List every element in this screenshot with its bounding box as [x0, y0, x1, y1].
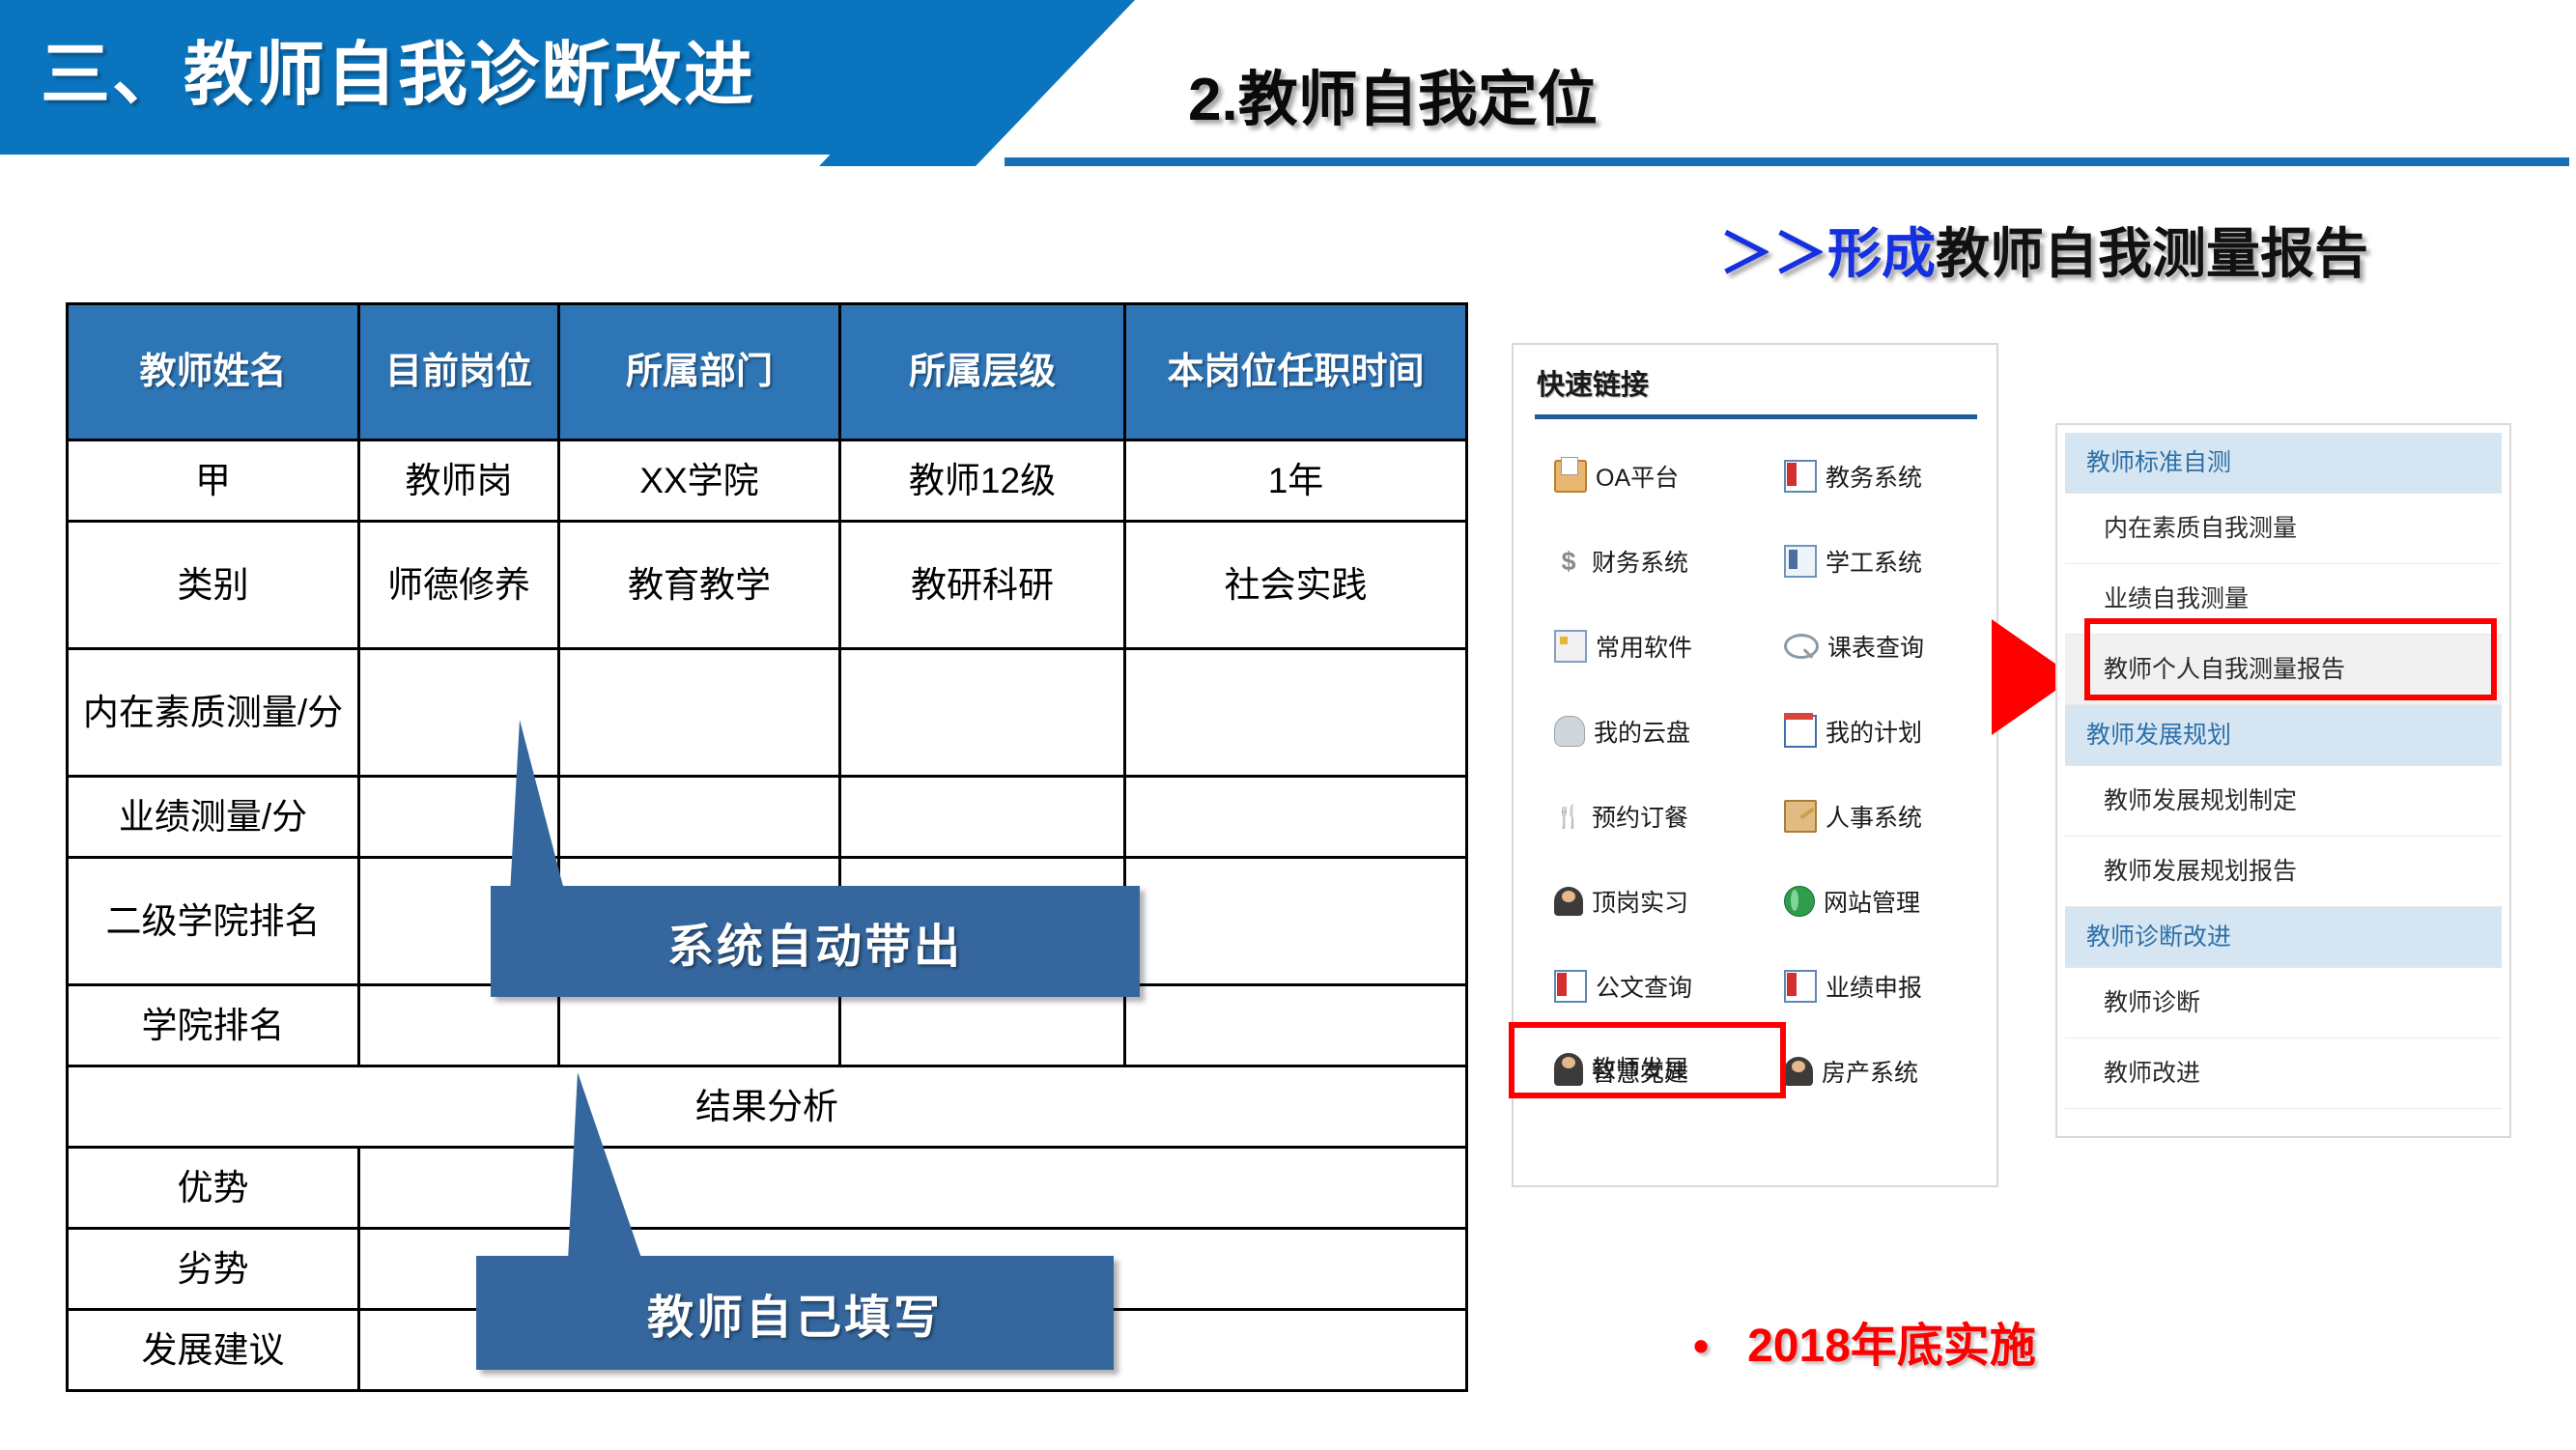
menu-group-development-plan: 教师发展规划	[2065, 705, 2502, 766]
col-header-name: 教师姓名	[68, 304, 359, 441]
cell-empty	[1125, 777, 1467, 858]
menu-group-diagnosis-improve: 教师诊断改进	[2065, 907, 2502, 968]
cell-empty	[359, 985, 559, 1066]
cell-name: 甲	[68, 441, 359, 522]
col-header-tenure: 本岗位任职时间	[1125, 304, 1467, 441]
cell-research: 教研科研	[840, 522, 1125, 649]
table-row: 学院排名	[68, 985, 1467, 1066]
quick-link-label: 业绩申报	[1826, 969, 1922, 1004]
quick-links-grid: OA平台 教务系统 $ 财务系统 学工系统 常用软件 课表查询	[1514, 434, 1996, 1114]
quick-link-renshi[interactable]: 人事系统	[1755, 774, 1996, 859]
col-header-dept: 所属部门	[559, 304, 840, 441]
quick-link-gongwen[interactable]: 公文查询	[1514, 944, 1755, 1029]
table-header-row: 教师姓名 目前岗位 所属部门 所属层级 本岗位任职时间	[68, 304, 1467, 441]
quick-link-label: 我的计划	[1826, 714, 1922, 749]
quick-links-underline	[1535, 414, 1977, 419]
col-header-level: 所属层级	[840, 304, 1125, 441]
cell-practice: 社会实践	[1125, 522, 1467, 649]
menu-item-development-plan-create[interactable]: 教师发展规划制定	[2065, 766, 2502, 837]
quick-link-caiwu[interactable]: $ 财务系统	[1514, 519, 1755, 604]
cell-strength-value	[359, 1148, 1467, 1229]
fork-knife-icon: 🍴	[1554, 802, 1583, 831]
bullet-icon: •	[1693, 1321, 1709, 1371]
cell-teaching: 教育教学	[559, 522, 840, 649]
quick-link-label: 学工系统	[1826, 544, 1922, 579]
quick-link-dinggang[interactable]: 顶岗实习	[1514, 859, 1755, 944]
menu-group-standard-selftest: 教师标准自测	[2065, 433, 2502, 494]
teacher-development-menu-panel: 教师标准自测 内在素质自我测量 业绩自我测量 教师个人自我测量报告 教师发展规划…	[2055, 423, 2511, 1138]
quick-links-title: 快速链接	[1537, 362, 1649, 403]
id-card-icon	[1784, 545, 1817, 578]
menu-item-teacher-diagnosis[interactable]: 教师诊断	[2065, 968, 2502, 1038]
person-icon	[1554, 887, 1583, 916]
book-icon	[1784, 460, 1817, 493]
calendar-icon	[1784, 715, 1817, 748]
quick-link-oa[interactable]: OA平台	[1514, 434, 1755, 519]
row-label-school-rank: 学院排名	[68, 985, 359, 1066]
menu-item-development-plan-report[interactable]: 教师发展规划报告	[2065, 837, 2502, 907]
quick-link-label: 常用软件	[1596, 629, 1692, 664]
mail-tray-icon	[1554, 460, 1587, 493]
money-icon: $	[1554, 547, 1583, 576]
cell-empty	[840, 985, 1125, 1066]
quick-link-changyong[interactable]: 常用软件	[1514, 604, 1755, 689]
presentation-icon	[1554, 630, 1587, 663]
table-row-analysis-header: 结果分析	[68, 1066, 1467, 1148]
cell-empty	[1125, 985, 1467, 1066]
row-label-inner-quality: 内在素质测量/分	[68, 649, 359, 777]
report-subtitle: ＞＞形成教师自我测量报告	[1719, 211, 2368, 289]
cell-category: 类别	[68, 522, 359, 649]
quick-link-jihua[interactable]: 我的计划	[1755, 689, 1996, 774]
col-header-post: 目前岗位	[359, 304, 559, 441]
implementation-note-text: 2018年底实施	[1747, 1321, 2036, 1372]
subtitle-main-text: 教师自我测量报告	[1936, 223, 2368, 284]
row-label-strength: 优势	[68, 1148, 359, 1229]
row-label-performance: 业绩测量/分	[68, 777, 359, 858]
book-icon	[1554, 970, 1587, 1003]
quick-link-label: 我的云盘	[1594, 714, 1690, 749]
row-label-weakness: 劣势	[68, 1229, 359, 1310]
quick-link-jiaowu[interactable]: 教务系统	[1755, 434, 1996, 519]
cell-dept: XX学院	[559, 441, 840, 522]
folder-pencil-icon	[1784, 800, 1817, 833]
analysis-title: 结果分析	[68, 1066, 1467, 1148]
quick-link-yunpan[interactable]: 我的云盘	[1514, 689, 1755, 774]
quick-link-label: 人事系统	[1826, 799, 1922, 834]
cell-post: 教师岗	[359, 441, 559, 522]
table-row: 甲 教师岗 XX学院 教师12级 1年	[68, 441, 1467, 522]
quick-link-label: 顶岗实习	[1592, 884, 1688, 919]
callout-teacher-fill: 教师自己填写	[476, 1256, 1114, 1370]
subtitle-chevron-text: ＞＞形成	[1719, 223, 1936, 284]
table-row: 业绩测量/分	[68, 777, 1467, 858]
cell-empty	[559, 777, 840, 858]
search-doc-icon	[1784, 634, 1819, 659]
teacher-self-assessment-table: 教师姓名 目前岗位 所属部门 所属层级 本岗位任职时间 甲 教师岗 XX学院 教…	[66, 302, 1468, 1392]
slide-canvas: 三、教师自我诊断改进 2.教师自我定位 ＞＞形成教师自我测量报告 教师姓名 目前…	[0, 0, 2576, 1450]
cell-level: 教师12级	[840, 441, 1125, 522]
cell-empty	[840, 777, 1125, 858]
menu-item-highlight-box	[2084, 618, 2497, 700]
section-title: 2.教师自我定位	[1188, 50, 1598, 137]
table-row: 优势	[68, 1148, 1467, 1229]
quick-link-highlight-box	[1509, 1022, 1786, 1098]
cell-empty	[840, 649, 1125, 777]
quick-link-dingcan[interactable]: 🍴 预约订餐	[1514, 774, 1755, 859]
menu-item-inner-quality-selftest[interactable]: 内在素质自我测量	[2065, 494, 2502, 564]
quick-link-label: OA平台	[1596, 459, 1679, 494]
quick-link-wangzhan[interactable]: 网站管理	[1755, 859, 1996, 944]
table-row: 类别 师德修养 教育教学 教研科研 社会实践	[68, 522, 1467, 649]
table-row: 内在素质测量/分	[68, 649, 1467, 777]
quick-link-yeji[interactable]: 业绩申报	[1755, 944, 1996, 1029]
quick-link-xuegong[interactable]: 学工系统	[1755, 519, 1996, 604]
cell-empty	[1125, 858, 1467, 985]
quick-link-label: 网站管理	[1824, 884, 1920, 919]
row-label-college-rank: 二级学院排名	[68, 858, 359, 985]
quick-link-keibiao[interactable]: 课表查询	[1755, 604, 1996, 689]
callout-system-auto: 系统自动带出	[491, 886, 1140, 997]
row-label-suggestion: 发展建议	[68, 1310, 359, 1391]
cell-empty	[1125, 649, 1467, 777]
chapter-title: 三、教师自我诊断改进	[41, 17, 755, 119]
cloud-icon	[1554, 716, 1585, 747]
cell-tenure: 1年	[1125, 441, 1467, 522]
cell-ethics: 师德修养	[359, 522, 559, 649]
quick-link-label: 财务系统	[1592, 544, 1688, 579]
quick-link-label: 公文查询	[1596, 969, 1692, 1004]
implementation-note: •2018年底实施	[1693, 1307, 2036, 1375]
quick-link-label: 课表查询	[1827, 629, 1924, 664]
cell-empty	[559, 985, 840, 1066]
quick-link-label: 预约订餐	[1592, 799, 1688, 834]
globe-icon	[1784, 886, 1815, 917]
book-icon	[1784, 970, 1817, 1003]
header-divider-rule	[1005, 157, 2569, 166]
cell-empty	[559, 649, 840, 777]
menu-item-teacher-improve[interactable]: 教师改进	[2065, 1038, 2502, 1109]
quick-link-label: 教务系统	[1826, 459, 1922, 494]
